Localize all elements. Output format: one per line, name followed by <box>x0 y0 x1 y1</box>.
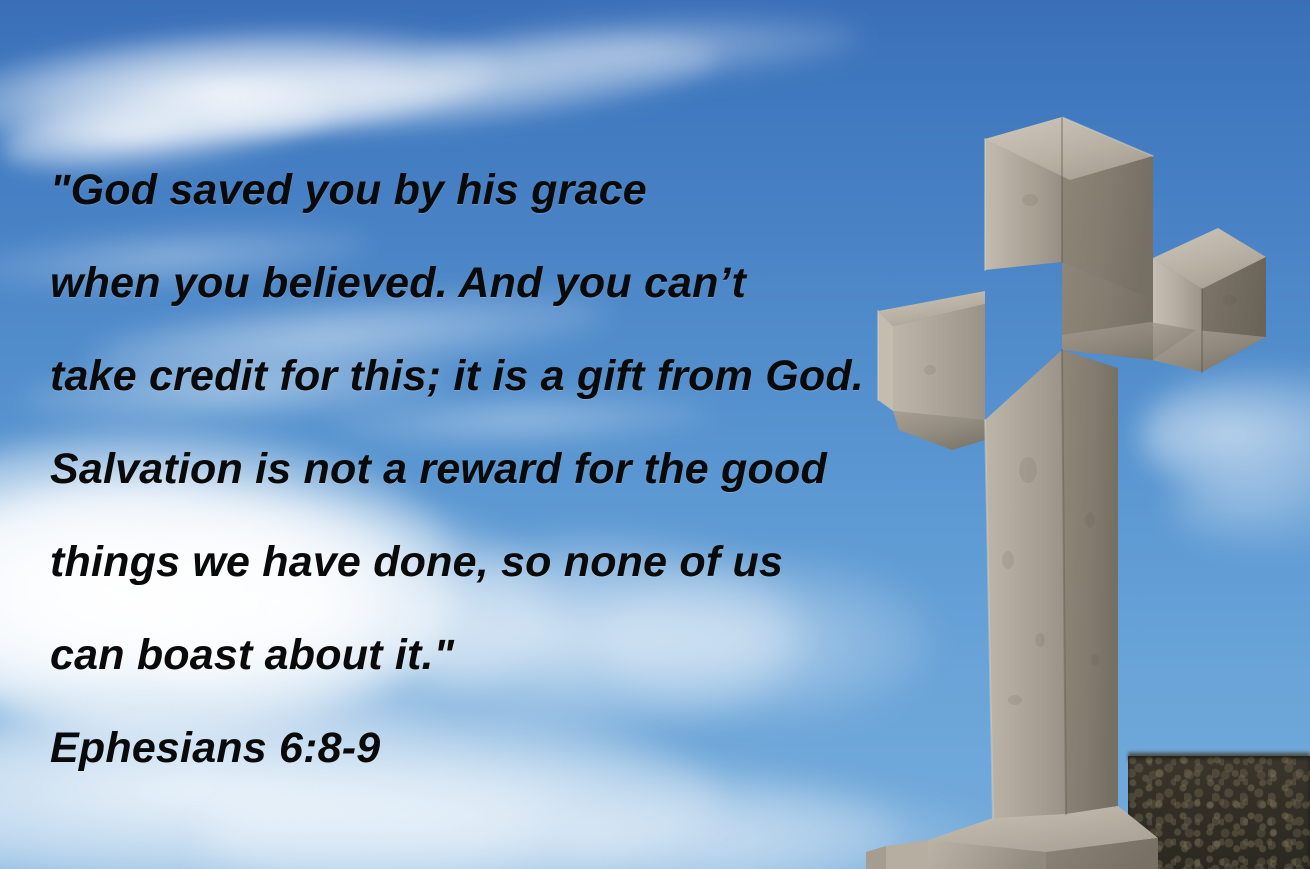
verse-line-1: "God saved you by his grace <box>50 144 1010 237</box>
cross-base-left-chamfer <box>886 840 928 869</box>
verse-line-4: Salvation is not a reward for the good <box>50 423 1010 516</box>
cross-base-left-edge <box>866 846 886 869</box>
verse-line-3: take credit for this; it is a gift from … <box>50 330 1010 423</box>
cross-shaft-right-face <box>1062 350 1118 814</box>
verse-text-block: "God saved you by his grace when you bel… <box>50 144 1010 795</box>
verse-line-5: things we have done, so none of us <box>50 516 1010 609</box>
scripture-image: "God saved you by his grace when you bel… <box>0 0 1310 869</box>
verse-reference: Ephesians 6:8-9 <box>50 702 1010 795</box>
verse-line-6: can boast about it." <box>50 609 1010 702</box>
verse-line-2: when you believed. And you can’t <box>50 237 1010 330</box>
